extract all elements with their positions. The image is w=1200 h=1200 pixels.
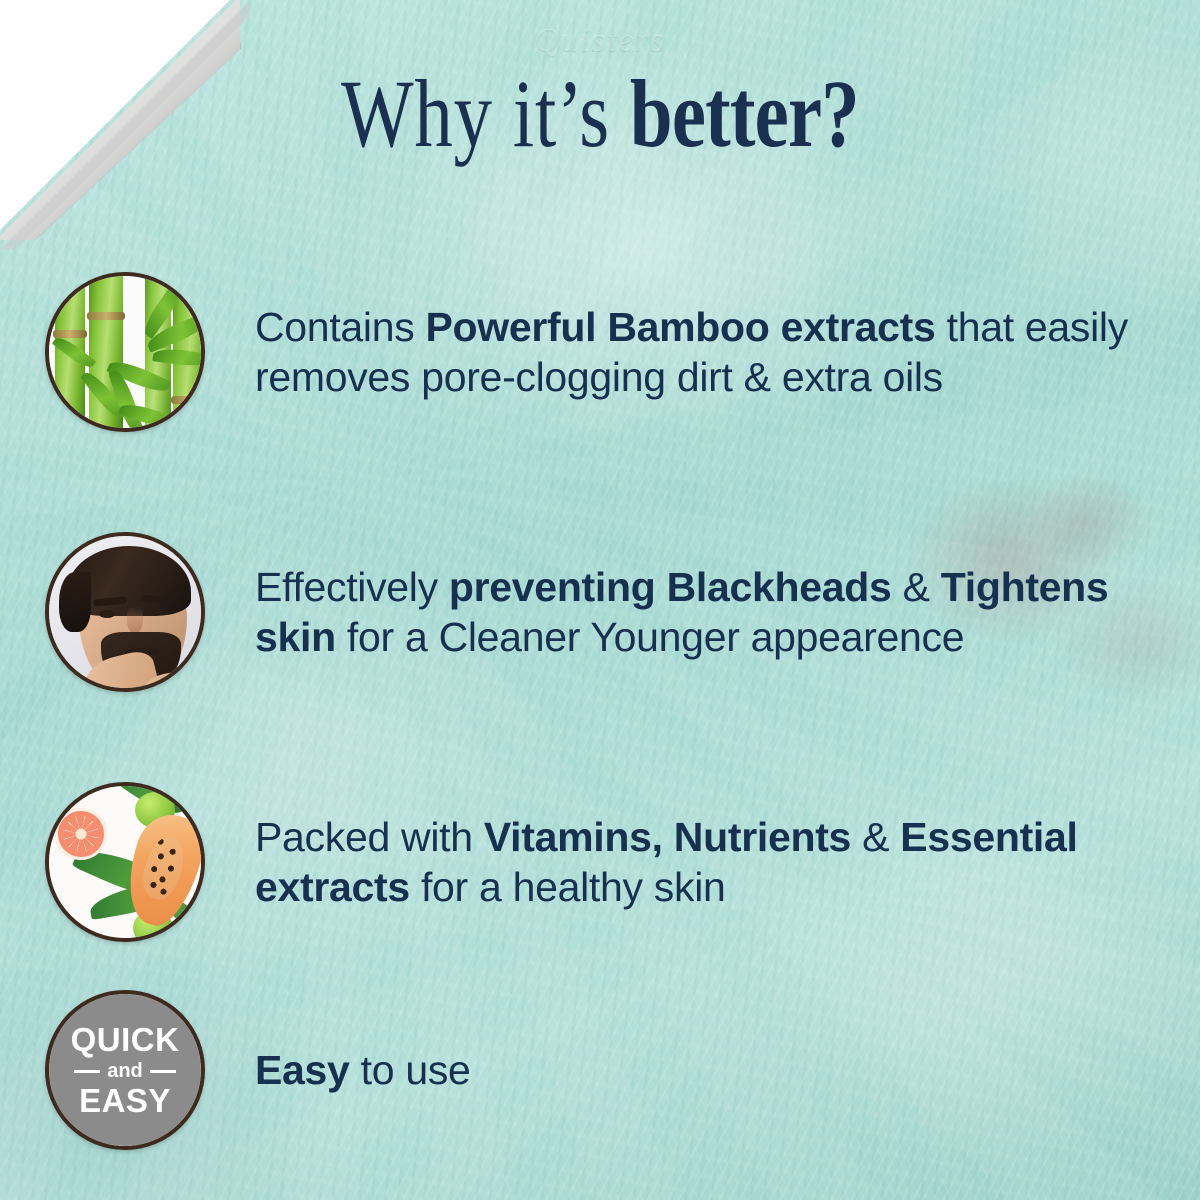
quick-and-easy-badge: QUICK and EASY <box>49 994 201 1146</box>
page-title-light: Why it’s <box>341 60 630 167</box>
product-benefits-infographic: Quisters Why it’s better? <box>0 0 1200 1200</box>
page-title-bold: better? <box>630 60 859 167</box>
badge-rule-left <box>74 1070 100 1073</box>
feature-row-vitamins: Packed with Vitamins, Nutrients & Essent… <box>0 782 1200 942</box>
badge-line-easy: EASY <box>79 1084 171 1117</box>
feature-icon-wrap <box>45 782 205 942</box>
feature-row-blackheads: Effectively preventing Blackheads & Tigh… <box>0 532 1200 692</box>
man-portrait-photo <box>49 536 201 688</box>
bamboo-photo-icon <box>45 272 205 432</box>
page-title: Why it’s better? <box>120 66 1080 162</box>
bamboo-photo <box>49 276 201 428</box>
fruits-photo <box>49 786 201 938</box>
feature-text-bamboo: Contains Powerful Bamboo extracts that e… <box>255 302 1160 402</box>
man-portrait-photo-icon <box>45 532 205 692</box>
feature-text-easy: Easy to use <box>255 1045 1160 1095</box>
badge-rule-right <box>150 1070 176 1073</box>
quick-and-easy-badge-icon: QUICK and EASY <box>45 990 205 1150</box>
feature-row-bamboo: Contains Powerful Bamboo extracts that e… <box>0 272 1200 432</box>
badge-line-and: and <box>107 1061 143 1081</box>
feature-icon-wrap <box>45 532 205 692</box>
feature-row-easy: QUICK and EASY Easy to use <box>0 990 1200 1150</box>
feature-text-vitamins: Packed with Vitamins, Nutrients & Essent… <box>255 812 1160 912</box>
feature-icon-wrap <box>45 272 205 432</box>
badge-and-row: and <box>74 1061 176 1081</box>
feature-icon-wrap: QUICK and EASY <box>45 990 205 1150</box>
feature-text-blackheads: Effectively preventing Blackheads & Tigh… <box>255 562 1160 662</box>
badge-line-quick: QUICK <box>71 1023 180 1056</box>
fruits-photo-icon <box>45 782 205 942</box>
